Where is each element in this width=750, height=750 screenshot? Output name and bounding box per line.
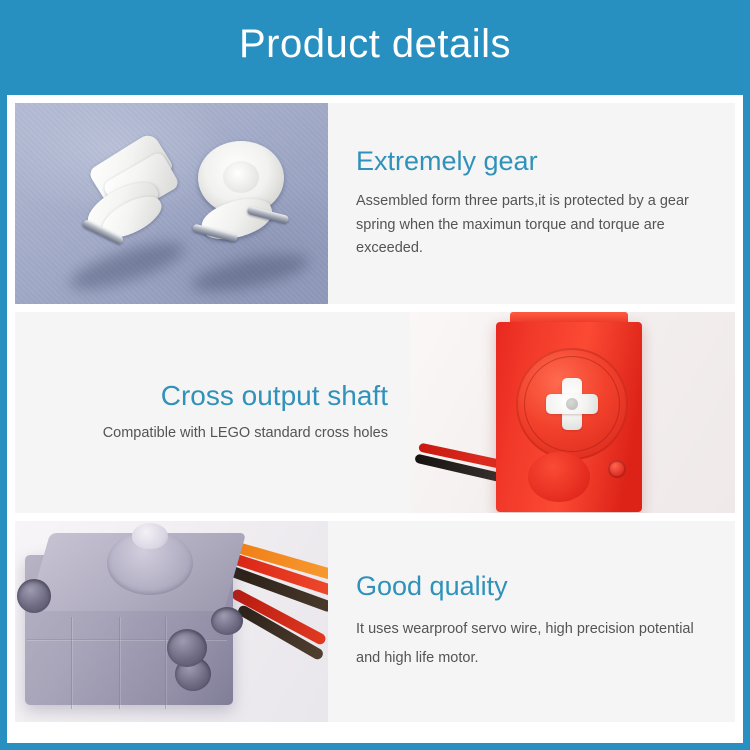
gear-hub xyxy=(223,161,259,193)
page-title: Product details xyxy=(239,24,511,64)
feature-description: Compatible with LEGO standard cross hole… xyxy=(103,422,388,445)
feature-row-extremely-gear: Extremely gear Assembled form three part… xyxy=(15,103,735,304)
feature-text-extremely-gear: Extremely gear Assembled form three part… xyxy=(328,103,735,304)
lego-pin-hole xyxy=(211,607,243,635)
feature-description: It uses wearproof servo wire, high preci… xyxy=(356,615,706,672)
cross-shaft-center-hole xyxy=(566,398,578,410)
lego-pin-hole xyxy=(167,629,207,667)
servo-lower-circle xyxy=(528,452,590,502)
page-header: Product details xyxy=(0,0,750,88)
servo-rib xyxy=(71,617,73,709)
feature-title: Cross output shaft xyxy=(161,380,388,412)
feature-text-good-quality: Good quality It uses wearproof servo wir… xyxy=(328,521,735,722)
feature-text-cross-output-shaft: Cross output shaft Compatible with LEGO … xyxy=(15,312,410,513)
lego-pin-hole xyxy=(17,579,51,613)
content-frame-border: Extremely gear Assembled form three part… xyxy=(0,88,750,750)
servo-output-cap xyxy=(132,523,168,549)
feature-description: Assembled form three parts,it is protect… xyxy=(356,190,711,260)
feature-rows: Extremely gear Assembled form three part… xyxy=(15,103,735,735)
feature-row-cross-output-shaft: Cross output shaft Compatible with LEGO … xyxy=(15,312,735,513)
lego-servo-photo xyxy=(15,521,328,722)
red-servo-photo xyxy=(410,312,735,513)
servo-screw xyxy=(608,460,626,478)
servo-rib xyxy=(165,617,167,709)
feature-title: Extremely gear xyxy=(356,146,717,177)
servo-rib xyxy=(119,617,121,709)
product-details-page: Product details xyxy=(0,0,750,750)
feature-row-good-quality: Good quality It uses wearproof servo wir… xyxy=(15,521,735,722)
content-frame-inner: Extremely gear Assembled form three part… xyxy=(7,95,743,743)
feature-title: Good quality xyxy=(356,571,717,602)
gear-parts-photo xyxy=(15,103,328,304)
